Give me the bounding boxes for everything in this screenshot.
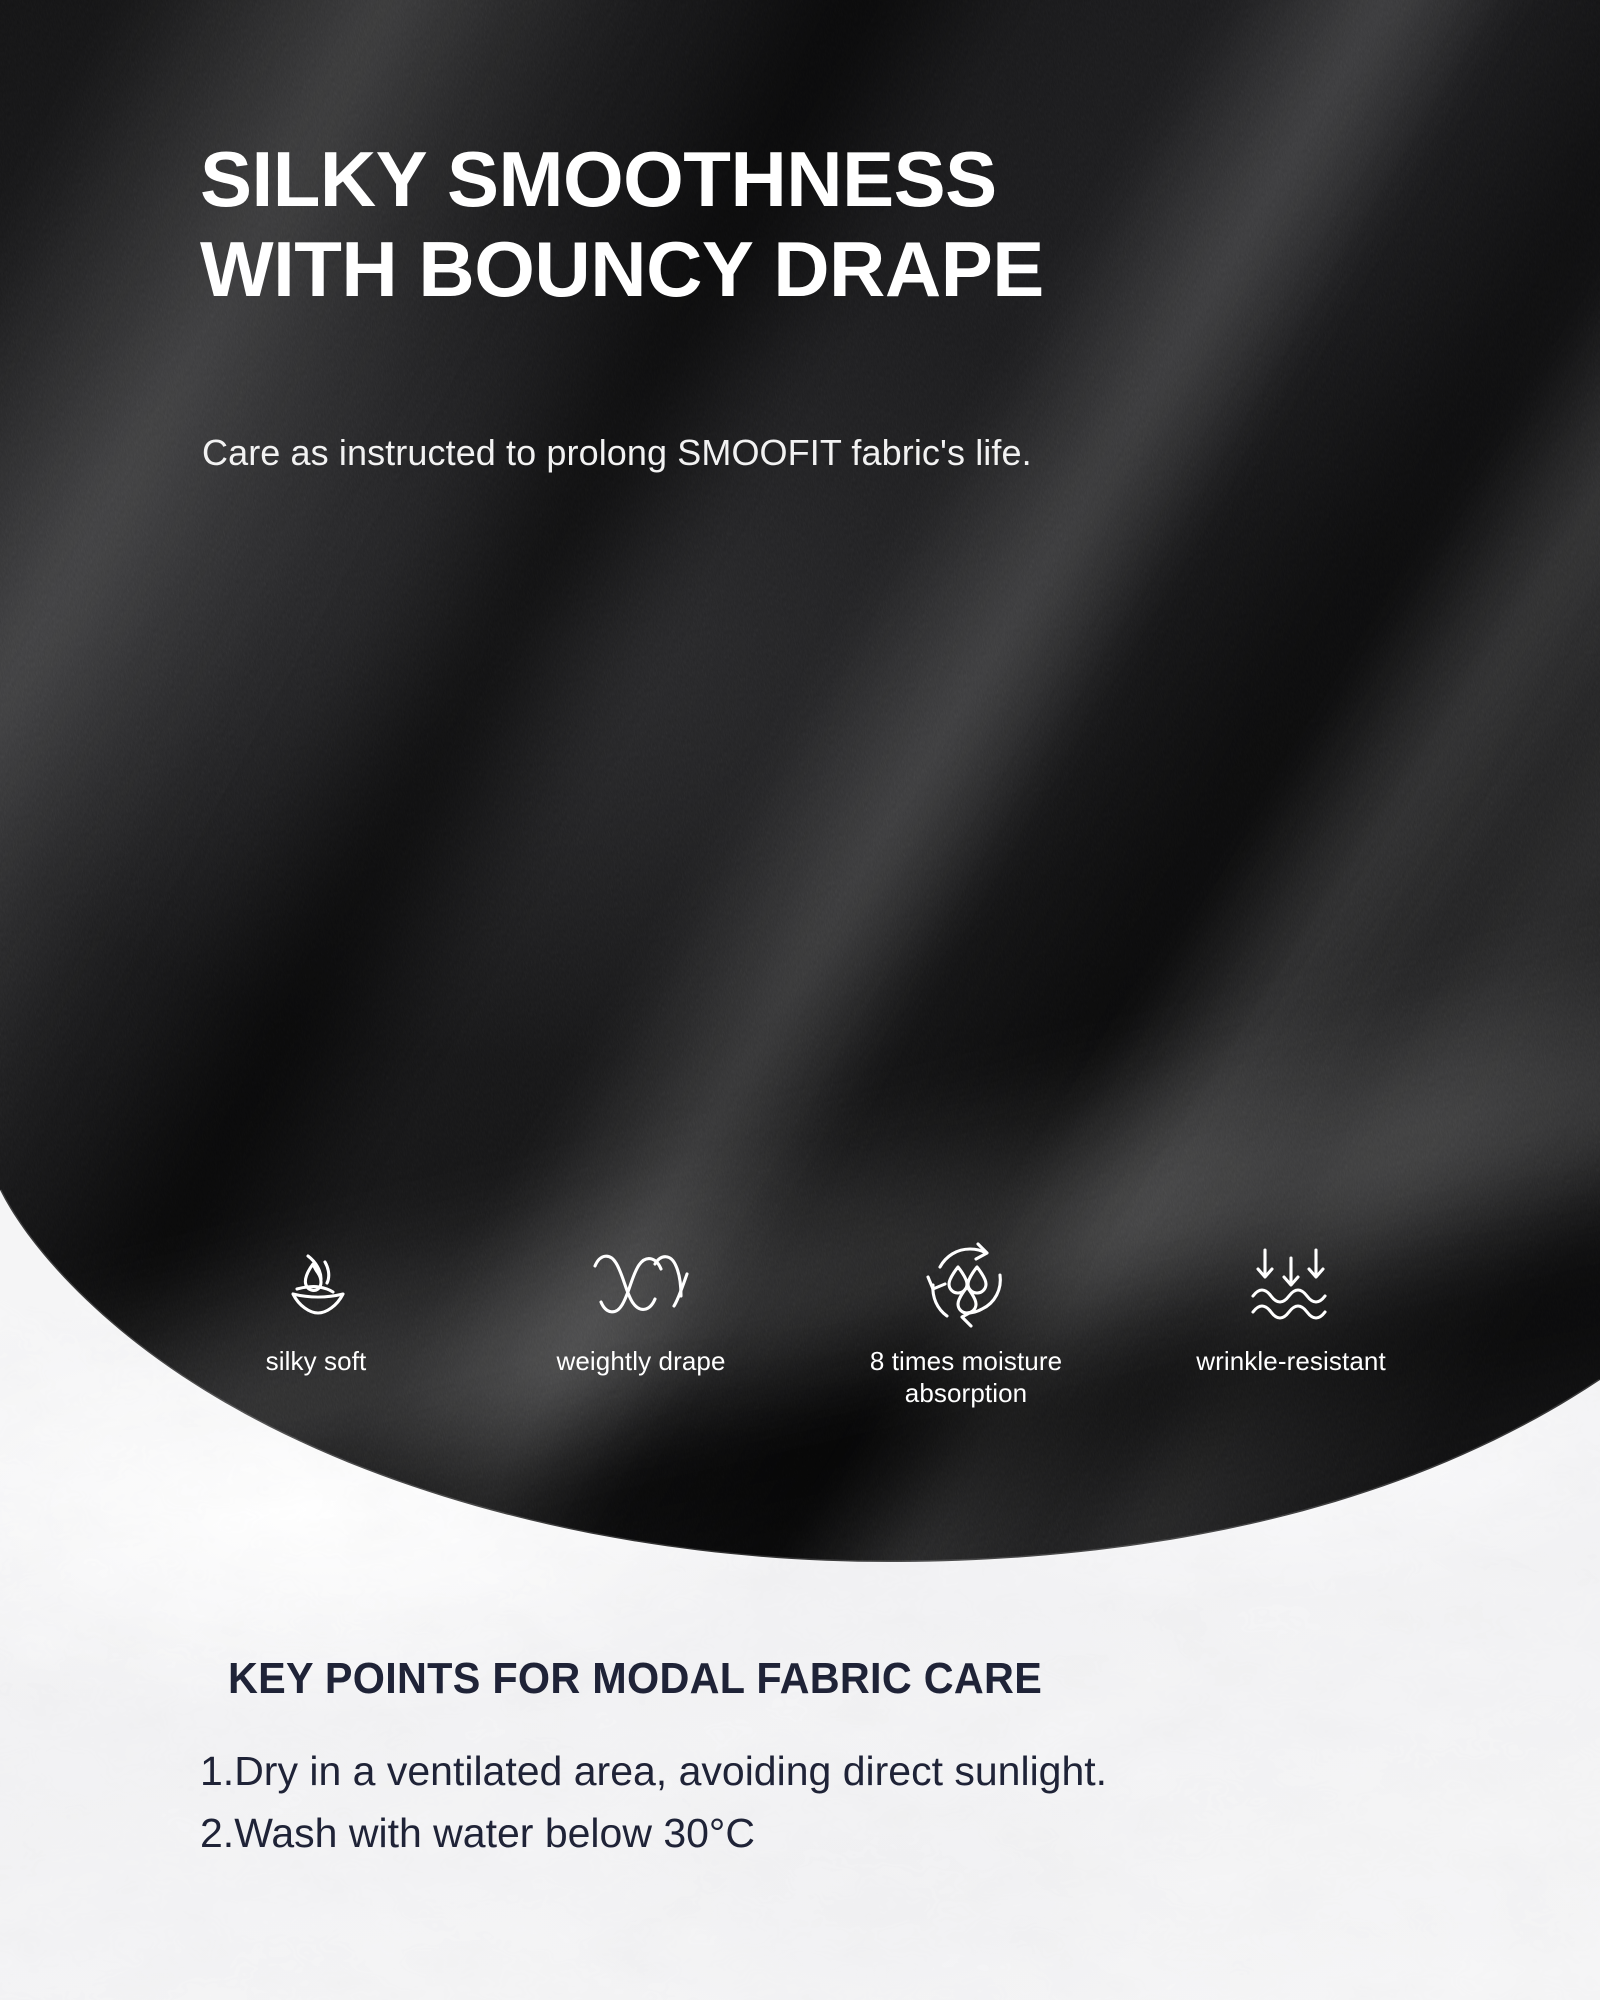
headline-line-2: WITH BOUNCY DRAPE <box>200 224 1440 314</box>
feature-label: wrinkle-resistant <box>1196 1346 1386 1378</box>
feature-item-silky-soft: silky soft <box>186 1240 446 1378</box>
care-list-item: 2.Wash with water below 30°C <box>200 1802 1500 1864</box>
moisture-absorption-icon <box>836 1240 1096 1330</box>
feature-item-weightly-drape: weightly drape <box>511 1240 771 1378</box>
feature-item-moisture-absorption: 8 times moisture absorption <box>836 1240 1096 1409</box>
feature-label: silky soft <box>266 1346 367 1378</box>
wavy-drape-icon <box>511 1240 771 1330</box>
care-instructions-list: 1.Dry in a ventilated area, avoiding dir… <box>200 1740 1500 1865</box>
page-title: SILKY SMOOTHNESS WITH BOUNCY DRAPE <box>200 134 1440 315</box>
product-care-infographic: SILKY SMOOTHNESS WITH BOUNCY DRAPE Care … <box>0 0 1600 2000</box>
wrinkle-resistant-icon <box>1161 1240 1421 1330</box>
silky-soft-icon <box>186 1240 446 1330</box>
headline-line-1: SILKY SMOOTHNESS <box>200 135 997 223</box>
feature-label: weightly drape <box>556 1346 725 1378</box>
feature-item-wrinkle-resistant: wrinkle-resistant <box>1161 1240 1421 1378</box>
feature-list: silky soft weightly drape <box>186 1240 1421 1409</box>
headline-subtitle: Care as instructed to prolong SMOOFIT fa… <box>202 430 1442 477</box>
care-section-title: KEY POINTS FOR MODAL FABRIC CARE <box>228 1654 1042 1704</box>
feature-label: 8 times moisture absorption <box>870 1346 1062 1409</box>
care-list-item: 1.Dry in a ventilated area, avoiding dir… <box>200 1740 1500 1802</box>
